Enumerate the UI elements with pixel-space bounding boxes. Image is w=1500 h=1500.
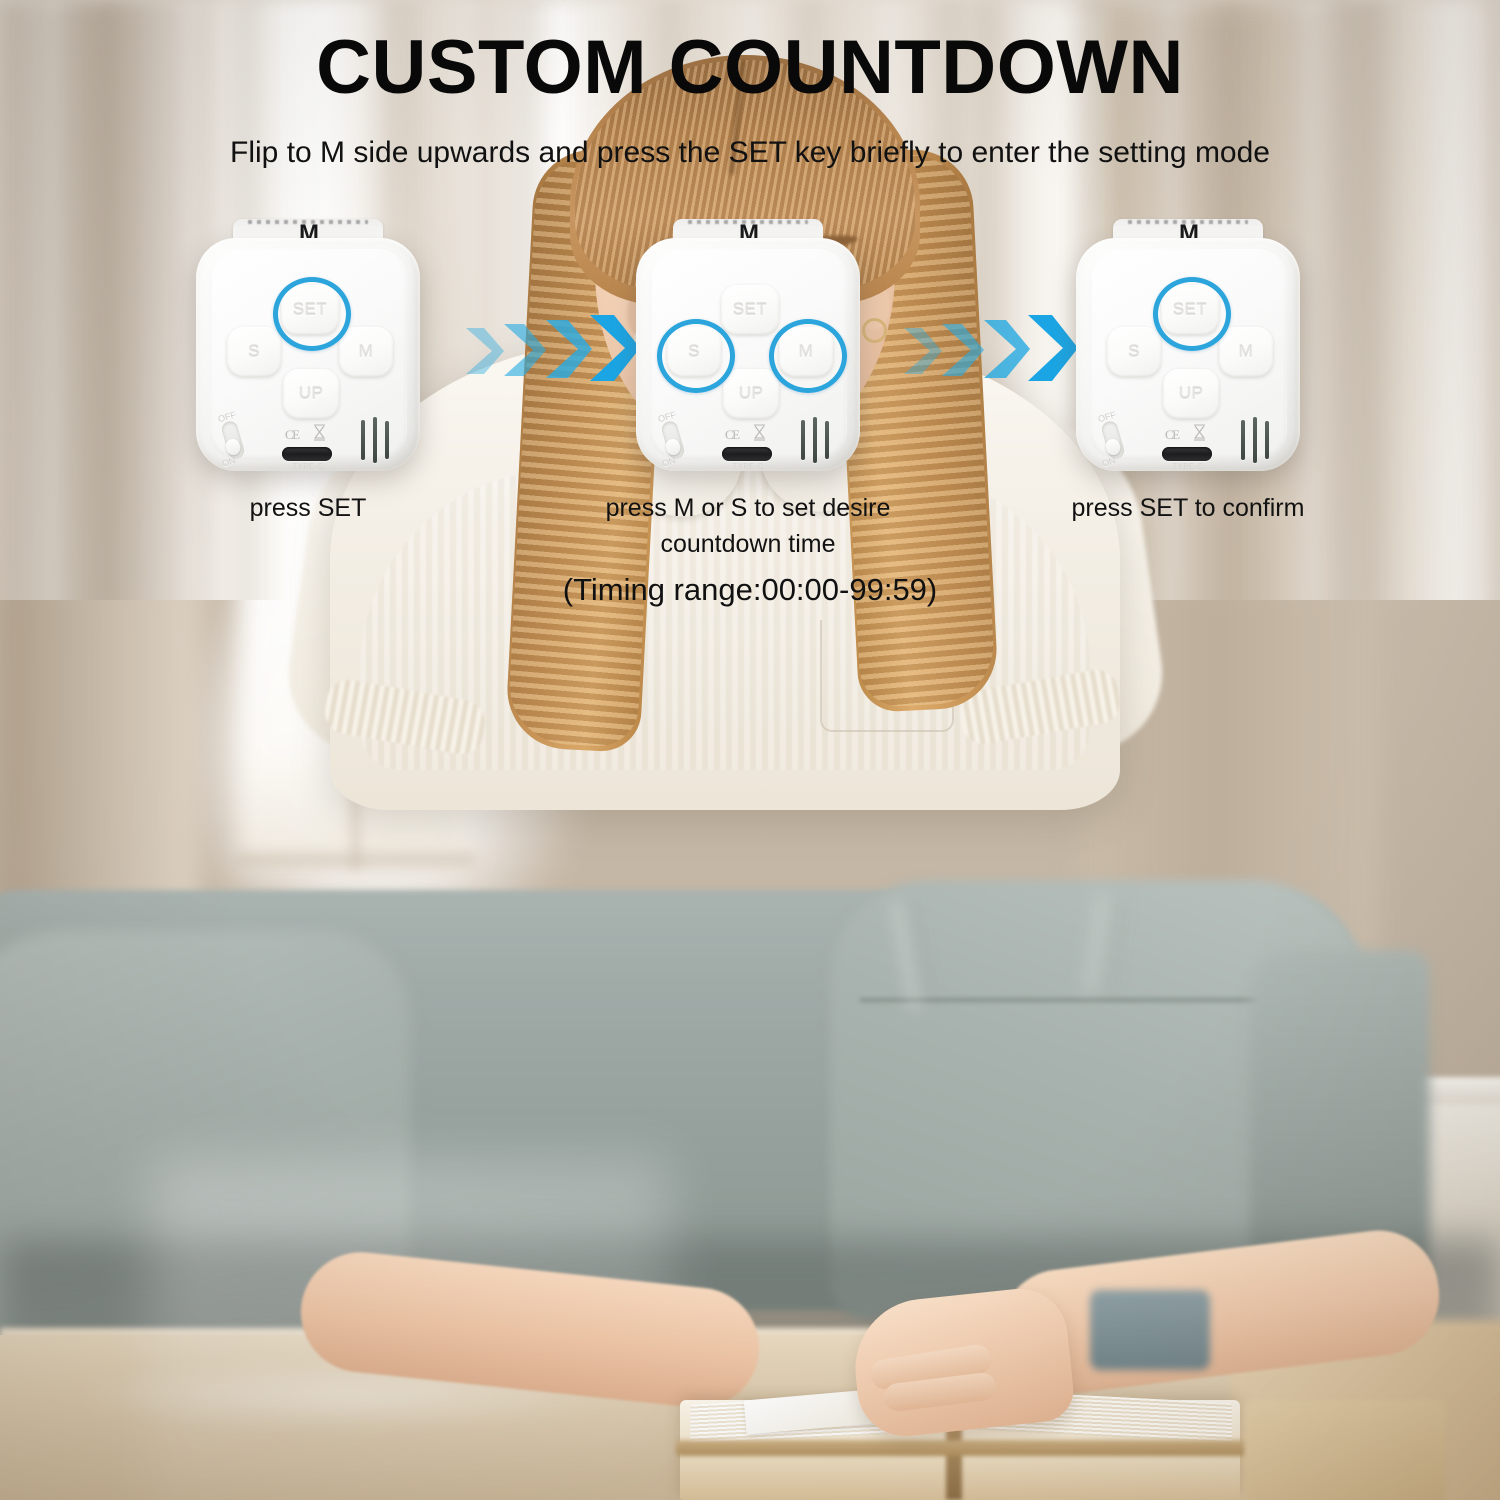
device-1-face: SET S M UP OFF ON CE TYPE-C <box>209 249 407 460</box>
device-2-up-button[interactable]: UP <box>723 369 779 419</box>
device-1-speaker-slot-1 <box>361 420 365 460</box>
device-2-usb-c-port <box>722 447 772 461</box>
device-2-weee-bin-icon <box>753 424 766 441</box>
device-3-s-button[interactable]: S <box>1107 327 1161 377</box>
step-3: M SET S M UP OFF ON CE <box>1076 219 1300 471</box>
page-title: CUSTOM COUNTDOWN <box>0 24 1500 111</box>
step-1-caption: press SET <box>106 491 510 527</box>
page-subtitle: Flip to M side upwards and press the SET… <box>0 136 1500 170</box>
chevron-right-icon-2b <box>938 322 986 378</box>
sofa-armrest <box>1250 950 1430 1280</box>
infographic-stage: CUSTOM COUNTDOWN Flip to M side upwards … <box>0 0 1500 1500</box>
step-2-caption-line2: countdown time <box>531 527 965 563</box>
device-3-usb-c-port <box>1162 447 1212 461</box>
device-2-body: SET S M UP OFF ON CE TYPE <box>636 238 860 471</box>
earring-right <box>862 318 887 343</box>
background-object-green <box>1090 1290 1210 1370</box>
step-2: M SET S M UP OFF ON CE <box>636 219 860 471</box>
device-2-ce-mark-icon: CE <box>725 427 739 443</box>
device-2-face: SET S M UP OFF ON CE TYPE <box>649 249 847 460</box>
step-2-caption-line1: press M or S to set desire <box>531 491 965 527</box>
device-2-switch-on-label: ON <box>661 455 677 468</box>
device-1-switch-on-label: ON <box>221 455 237 468</box>
device-1-port-label: TYPE-C <box>283 462 333 471</box>
device-2-port-label: TYPE-C <box>723 462 773 471</box>
device-2-speaker-slot-1 <box>801 420 805 460</box>
device-2-speaker-slot-2 <box>813 417 817 463</box>
device-1-up-button[interactable]: UP <box>283 369 339 419</box>
step-3-caption: press SET to confirm <box>971 491 1405 527</box>
device-3-face: SET S M UP OFF ON CE TYPE-C <box>1089 249 1287 460</box>
device-1-s-button[interactable]: S <box>227 327 281 377</box>
chevron-right-icon-1d <box>586 313 642 383</box>
device-3-weee-bin-icon <box>1193 424 1206 441</box>
device-1-m-button[interactable]: M <box>339 327 393 377</box>
timing-range-note: (Timing range:00:00-99:59) <box>0 572 1500 608</box>
device-1-usb-c-port <box>282 447 332 461</box>
device-2-speaker-slot-3 <box>825 421 829 459</box>
device-3-set-highlight-ring <box>1153 277 1231 351</box>
device-1-ce-mark-icon: CE <box>285 427 299 443</box>
device-3-speaker-slot-2 <box>1253 417 1257 463</box>
device-1-speaker-slot-2 <box>373 417 377 463</box>
chevron-right-icon-2d <box>1024 313 1080 383</box>
arrow-group-1 <box>462 312 637 388</box>
device-2-set-button[interactable]: SET <box>721 285 779 335</box>
device-3: M SET S M UP OFF ON CE <box>1076 219 1300 471</box>
device-2-s-highlight-ring <box>657 319 735 393</box>
window-sill <box>235 855 475 865</box>
desk-object-tan <box>1245 1400 1445 1500</box>
device-1-set-highlight-ring <box>273 277 351 351</box>
device-3-m-button[interactable]: M <box>1219 327 1273 377</box>
arrow-group-2 <box>900 312 1075 388</box>
device-1-speaker-slot-3 <box>385 421 389 459</box>
device-3-port-label: TYPE-C <box>1163 462 1213 471</box>
device-3-up-button[interactable]: UP <box>1163 369 1219 419</box>
device-2: M SET S M UP OFF ON CE <box>636 219 860 471</box>
device-3-switch-on-label: ON <box>1101 455 1117 468</box>
device-1-body: SET S M UP OFF ON CE TYPE-C <box>196 238 420 471</box>
device-3-speaker-slot-3 <box>1265 421 1269 459</box>
step-1: M SET S M UP OFF ON CE <box>196 219 420 471</box>
device-1: M SET S M UP OFF ON CE <box>196 219 420 471</box>
device-3-ce-mark-icon: CE <box>1165 427 1179 443</box>
chevron-right-icon-1b <box>500 322 548 378</box>
device-1-weee-bin-icon <box>313 424 326 441</box>
device-3-speaker-slot-1 <box>1241 420 1245 460</box>
device-3-body: SET S M UP OFF ON CE TYPE-C <box>1076 238 1300 471</box>
book-bottom-edge <box>676 1440 1246 1456</box>
device-2-m-highlight-ring <box>769 319 847 393</box>
